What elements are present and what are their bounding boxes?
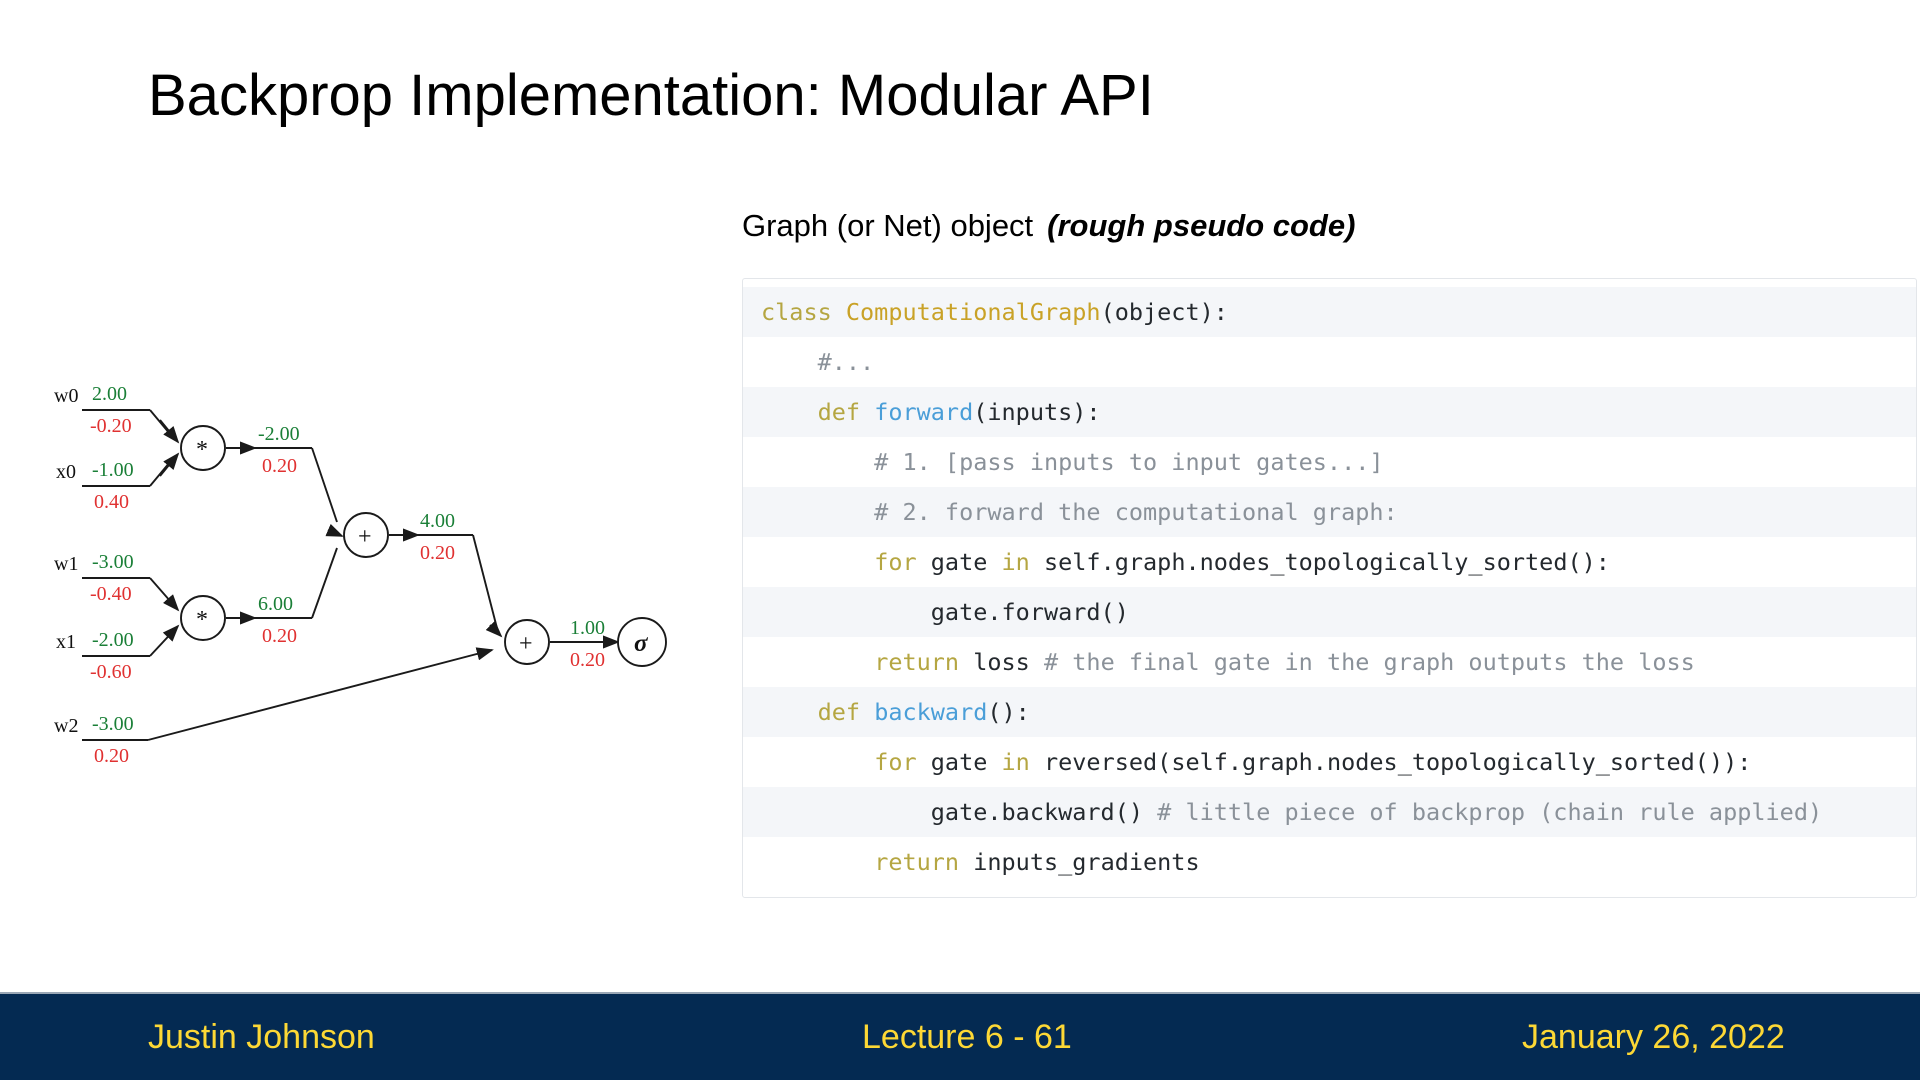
footer-lecture: Lecture 6 - 61 — [862, 1018, 1072, 1057]
graph-node-mul-top: * — [181, 426, 225, 470]
graph-edge-mul-bottom-out: 6.00 0.20 — [226, 548, 337, 647]
line-class: class ComputationalGraph(object): — [743, 287, 1916, 337]
code-token: in — [1002, 548, 1044, 576]
graph-edge-mul-top-out: -2.00 0.20 — [226, 423, 337, 522]
code-token: return — [874, 648, 973, 676]
code-token: #... — [761, 348, 874, 376]
graph-node-mul-bottom: * — [181, 596, 225, 640]
edge-grad-add-mid: 0.20 — [420, 542, 455, 564]
code-token: (object): — [1101, 298, 1228, 326]
input-grad-w2: 0.20 — [94, 745, 129, 767]
edge-grad-mul-top: 0.20 — [262, 455, 297, 477]
line-ellipsis: #... — [743, 337, 1916, 387]
graph-input-x1: x1 -2.00 -0.60 — [56, 626, 178, 683]
code-token: ComputationalGraph — [846, 298, 1101, 326]
graph-input-w0: w0 2.00 -0.20 — [54, 383, 175, 440]
node-op-sigmoid: σ — [634, 630, 649, 657]
code-token: inputs_gradients — [973, 848, 1199, 876]
code-token: forward — [874, 398, 973, 426]
input-label-w1: w1 — [54, 553, 78, 575]
input-grad-w0: -0.20 — [90, 415, 132, 437]
code-token: # 2. forward the computational graph: — [761, 498, 1398, 526]
code-token: for — [874, 548, 931, 576]
code-token: loss — [973, 648, 1044, 676]
code-token — [761, 848, 874, 876]
node-op-mul-top: * — [196, 437, 208, 463]
code-token: gate.backward() — [761, 798, 1157, 826]
input-label-w2: w2 — [54, 715, 78, 737]
line-gate-backward: gate.backward() # little piece of backpr… — [743, 787, 1916, 837]
input-value-w0: 2.00 — [92, 383, 127, 405]
input-value-x0: -1.00 — [92, 459, 134, 481]
graph-input-w1: w1 -3.00 -0.40 — [54, 551, 178, 610]
code-token: gate.forward() — [761, 598, 1129, 626]
edge-value-mul-bottom: 6.00 — [258, 593, 293, 615]
code-token — [761, 398, 818, 426]
graph-edge-add-mid-out: 4.00 0.20 — [389, 510, 498, 632]
arrow-into-add-right — [490, 625, 501, 636]
input-grad-w1: -0.40 — [90, 583, 132, 605]
footer-date: January 26, 2022 — [1522, 1018, 1785, 1057]
footer-bar: Justin Johnson Lecture 6 - 61 January 26… — [0, 992, 1920, 1080]
input-value-x1: -2.00 — [92, 629, 134, 651]
edge-w2-to-add-right — [148, 650, 492, 740]
code-token: (): — [987, 698, 1029, 726]
heading-italic-note: (rough pseudo code) — [1047, 208, 1355, 243]
line-for-forward: for gate in self.graph.nodes_topological… — [743, 537, 1916, 587]
input-label-x0: x0 — [56, 461, 76, 483]
code-token: self.graph.nodes_topologically_sorted(): — [1044, 548, 1610, 576]
input-value-w1: -3.00 — [92, 551, 134, 573]
input-value-w2: -3.00 — [92, 713, 134, 735]
edge-mul-bottom-to-add — [312, 548, 337, 618]
code-token — [761, 648, 874, 676]
edge-w1-to-mul — [150, 578, 178, 610]
code-token: in — [1002, 748, 1044, 776]
graph-input-x0: x0 -1.00 0.40 — [56, 456, 175, 513]
code-token: # little piece of backprop (chain rule a… — [1157, 798, 1822, 826]
node-op-mul-bottom: * — [196, 607, 208, 633]
line-return-loss: return loss # the final gate in the grap… — [743, 637, 1916, 687]
graph-node-add-right: + — [490, 620, 549, 664]
input-label-w0: w0 — [54, 385, 78, 407]
code-token: reversed(self.graph.nodes_topologically_… — [1044, 748, 1751, 776]
code-token: return — [874, 848, 973, 876]
arrow-w0-mul — [160, 420, 178, 442]
line-gate-forward: gate.forward() — [743, 587, 1916, 637]
input-grad-x1: -0.60 — [90, 661, 132, 683]
graph-node-sigmoid: σ — [618, 618, 666, 666]
arrow-into-add-mid — [328, 530, 342, 536]
code-token: gate — [931, 548, 1002, 576]
code-token — [761, 698, 818, 726]
line-return-grads: return inputs_gradients — [743, 837, 1916, 887]
code-token: def — [818, 398, 875, 426]
code-token: def — [818, 698, 875, 726]
footer-author: Justin Johnson — [148, 1018, 375, 1057]
arrow-x0-mul — [160, 454, 178, 476]
heading-plain-text: Graph (or Net) object — [742, 208, 1033, 243]
input-label-x1: x1 — [56, 631, 76, 653]
right-panel-heading: Graph (or Net) object(rough pseudo code) — [742, 208, 1355, 244]
input-grad-x0: 0.40 — [94, 491, 129, 513]
code-token: gate — [931, 748, 1002, 776]
line-def-backward: def backward(): — [743, 687, 1916, 737]
edge-value-add-mid: 4.00 — [420, 510, 455, 532]
edge-grad-add-right: 0.20 — [570, 649, 605, 671]
code-token: for — [874, 748, 931, 776]
line-comment-2: # 2. forward the computational graph: — [743, 487, 1916, 537]
graph-edge-add-right-out: 1.00 0.20 — [550, 617, 618, 671]
edge-mul-top-to-add — [312, 448, 337, 522]
edge-w0-to-mul — [150, 410, 175, 440]
code-token: class — [761, 298, 846, 326]
line-def-forward: def forward(inputs): — [743, 387, 1916, 437]
edge-value-add-right: 1.00 — [570, 617, 605, 639]
edge-value-mul-top: -2.00 — [258, 423, 300, 445]
edge-x0-to-mul — [150, 456, 175, 486]
computational-graph-diagram: w0 2.00 -0.20 x0 -1.00 0.40 * — [40, 370, 680, 775]
edge-add-mid-to-add-right — [473, 535, 498, 632]
page-title: Backprop Implementation: Modular API — [148, 62, 1154, 129]
node-op-add-mid: + — [358, 524, 372, 550]
code-token — [761, 548, 874, 576]
code-token — [761, 748, 874, 776]
edge-x1-to-mul — [150, 626, 178, 656]
line-comment-1: # 1. [pass inputs to input gates...] — [743, 437, 1916, 487]
node-op-add-right: + — [519, 631, 533, 657]
code-token: # the final gate in the graph outputs th… — [1044, 648, 1695, 676]
code-token: backward — [874, 698, 987, 726]
code-block: class ComputationalGraph(object): #... d… — [742, 278, 1917, 898]
code-token: (inputs): — [973, 398, 1100, 426]
code-token: # 1. [pass inputs to input gates...] — [761, 448, 1384, 476]
edge-grad-mul-bottom: 0.20 — [262, 625, 297, 647]
line-for-backward: for gate in reversed(self.graph.nodes_to… — [743, 737, 1916, 787]
